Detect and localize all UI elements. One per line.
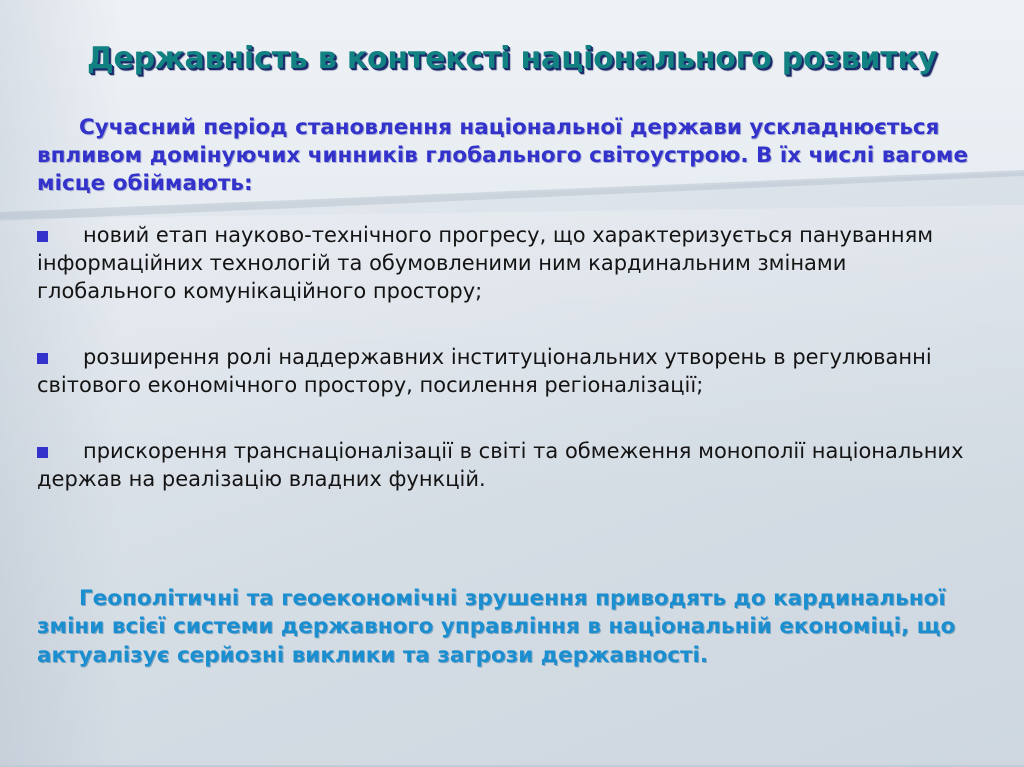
intro-paragraph: Сучасний період становлення національної… bbox=[37, 114, 992, 199]
square-bullet-icon bbox=[37, 447, 48, 458]
closing-paragraph: Геополітичні та геоекономічні зрушення п… bbox=[37, 585, 997, 671]
list-item-text: розширення ролі наддержавних інституціон… bbox=[37, 345, 932, 397]
square-bullet-icon bbox=[37, 231, 48, 242]
bullet-list: новий етап науково-технічного прогресу, … bbox=[0, 222, 1024, 493]
presentation-slide: Державність в контексті національного ро… bbox=[0, 0, 1024, 767]
list-item-text: новий етап науково-технічного прогресу, … bbox=[37, 223, 933, 303]
square-bullet-icon bbox=[37, 353, 48, 364]
list-item: новий етап науково-технічного прогресу, … bbox=[0, 222, 1024, 306]
slide-title: Державність в контексті національного ро… bbox=[24, 42, 1000, 75]
list-item: прискорення транснаціоналізації в світі … bbox=[0, 438, 1024, 494]
list-item-text: прискорення транснаціоналізації в світі … bbox=[37, 439, 964, 491]
slide-content: Державність в контексті національного ро… bbox=[0, 0, 1024, 767]
list-item: розширення ролі наддержавних інституціон… bbox=[0, 344, 1024, 400]
